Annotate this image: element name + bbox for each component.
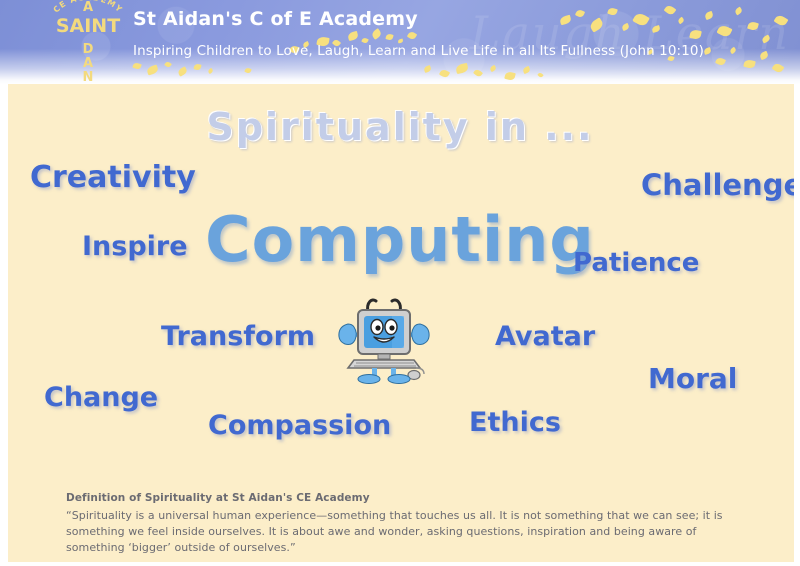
page-edge-right [794, 84, 800, 566]
page-edge-bottom [0, 562, 800, 566]
spirituality-poster: Laugh Learn [0, 0, 800, 566]
definition-block: Definition of Spirituality at St Aidan's… [66, 492, 742, 556]
cloud-word-challenge: Challenge [641, 168, 800, 202]
school-crest-logo: CE ACADEMY AIDDANS SAINT [40, 0, 136, 84]
page-title: Spirituality in ... [0, 105, 800, 149]
cloud-word-transform: Transform [161, 321, 315, 352]
cloud-word-change: Change [44, 382, 158, 413]
crest-horizontal-word: SAINT [40, 17, 136, 36]
school-name: St Aidan's C of E Academy [133, 8, 418, 30]
cloud-word-patience: Patience [573, 248, 699, 278]
school-strapline: Inspiring Children to Love, Laugh, Learn… [133, 43, 704, 59]
school-header-banner: Laugh Learn [0, 0, 800, 84]
cloud-word-moral: Moral [648, 362, 737, 395]
cloud-word-compassion: Compassion [208, 410, 391, 441]
definition-body: “Spirituality is a universal human exper… [66, 508, 742, 556]
cloud-word-ethics: Ethics [469, 407, 561, 438]
computer-mascot-icon [336, 292, 432, 384]
crest-vertical-word: AIDDANS [40, 1, 136, 84]
definition-heading: Definition of Spirituality at St Aidan's… [66, 492, 742, 504]
cloud-word-creativity: Creativity [30, 160, 196, 195]
cloud-word-avatar: Avatar [495, 321, 595, 352]
page-edge-left [0, 84, 8, 566]
cloud-word-inspire: Inspire [82, 231, 188, 262]
